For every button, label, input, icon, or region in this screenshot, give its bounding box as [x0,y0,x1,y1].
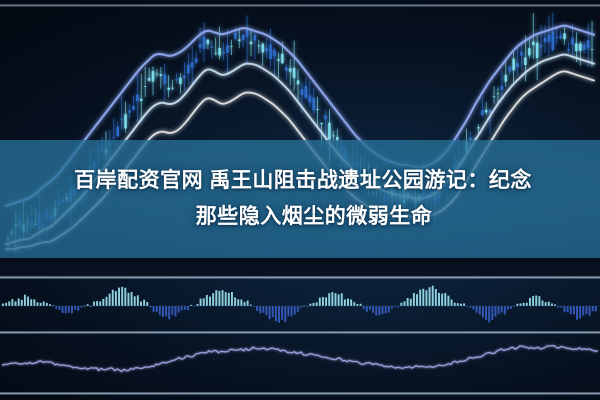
headline: 百岸配资官网 禹王山阻击战遗址公园游记：纪念 那些隐入烟尘的微弱生命 [0,140,600,258]
separator-mid-1 [0,276,600,279]
headline-line-2: 那些隐入烟尘的微弱生命 [168,202,433,232]
chart-banner-image: 百岸配资官网 禹王山阻击战遗址公园游记：纪念 那些隐入烟尘的微弱生命 [0,0,600,400]
separator-top [0,4,600,7]
panel-gap-upper [0,258,600,277]
headline-line-1: 百岸配资官网 禹王山阻击战遗址公园游记：纪念 [68,166,532,196]
separator-bottom [0,392,600,395]
separator-mid-2 [0,331,600,334]
